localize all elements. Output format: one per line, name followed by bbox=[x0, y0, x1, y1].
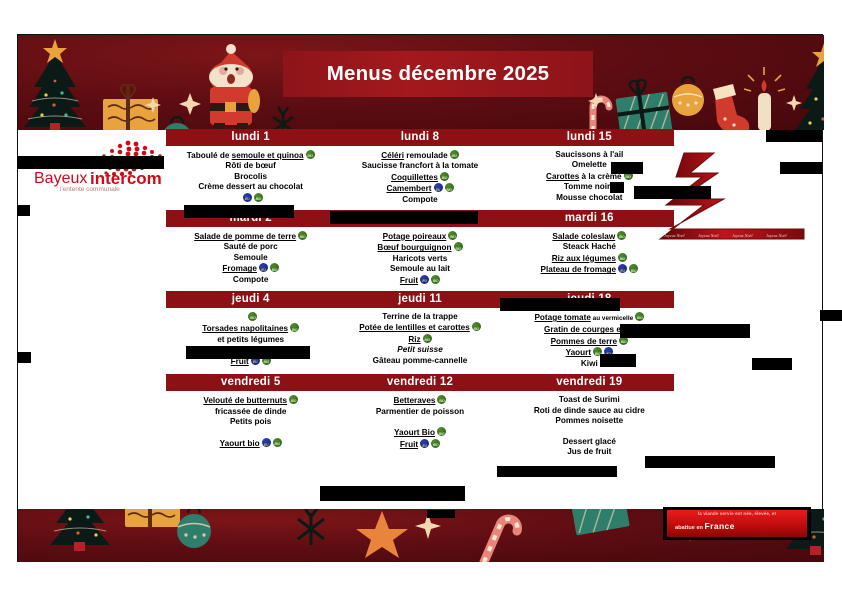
menu-cell-mardi-16: Salade coleslaw Steack Haché Riz aux lég… bbox=[505, 227, 674, 291]
dish: Pommes noisette bbox=[507, 416, 672, 426]
dish-underlined: Riz aux légumes bbox=[552, 254, 616, 263]
snowflake-icon bbox=[273, 107, 293, 130]
redaction-bar bbox=[17, 156, 164, 169]
dish: Compote bbox=[337, 195, 502, 205]
dish-underlined: Gratin de courges et bbox=[544, 325, 624, 334]
menu-cell-vendredi-5: Velouté de butternuts fricassée de dinde… bbox=[166, 391, 335, 462]
bio-badge-icon bbox=[431, 439, 440, 448]
dish: fricassée de dinde bbox=[168, 407, 333, 417]
menu-row-4: Velouté de butternuts fricassée de dinde… bbox=[166, 391, 674, 462]
redaction-bar bbox=[780, 162, 822, 174]
dish-underlined: Potée de lentilles et carottes bbox=[359, 323, 470, 332]
dish: Semoule au lait bbox=[337, 264, 502, 274]
menu-cell-lundi-1: Taboulé de semoule et quinoa Rôti de bœu… bbox=[166, 146, 335, 210]
snowflake-icon-2 bbox=[298, 509, 324, 545]
day-header-vendredi-12: vendredi 12 bbox=[335, 374, 504, 391]
bauble-icon-3 bbox=[672, 77, 704, 116]
redaction-bar bbox=[500, 298, 620, 311]
redacted-dish bbox=[507, 276, 672, 286]
sparkle-icon bbox=[179, 93, 201, 115]
dish-underlined: Céléri bbox=[381, 151, 404, 160]
sparkle-icon-4 bbox=[786, 95, 802, 111]
eu-badge-icon bbox=[243, 193, 252, 202]
stocking-icon bbox=[713, 84, 749, 130]
svg-text:Joyeux Noël: Joyeux Noël bbox=[732, 233, 753, 238]
gift-box-icon-2 bbox=[613, 77, 672, 130]
bio-badge-icon bbox=[440, 172, 449, 181]
redaction-bar bbox=[600, 354, 636, 367]
dish-underlined: Pommes de terre bbox=[551, 337, 617, 346]
dish: Taboulé de bbox=[187, 151, 232, 160]
santa-claus-icon bbox=[209, 44, 260, 130]
redaction-bar bbox=[320, 486, 465, 501]
menu-poster: Menus décembre 2025 bbox=[0, 0, 842, 595]
bio-badge-icon bbox=[635, 312, 644, 321]
bio-badge-icon bbox=[290, 323, 299, 332]
notice-prefix: abattue en bbox=[675, 525, 705, 531]
page-title: Menus décembre 2025 bbox=[327, 62, 550, 86]
star-icon bbox=[356, 511, 408, 558]
redaction-bar bbox=[820, 310, 842, 321]
gift-box-icon-3 bbox=[125, 509, 180, 527]
redaction-bar bbox=[752, 358, 792, 370]
day-header-lundi-8: lundi 8 bbox=[335, 129, 504, 146]
redaction-bar bbox=[497, 466, 617, 477]
menu-cell-mardi-2: Salade de pomme de terre Sauté de porc S… bbox=[166, 227, 335, 291]
notice-plate: la viande servie est née, élevée, et aba… bbox=[667, 510, 807, 537]
dish-empty bbox=[168, 427, 333, 437]
notice-line-1: la viande servie est née, élevée, et bbox=[667, 511, 807, 516]
christmas-tree-icon bbox=[24, 39, 86, 130]
eu-badge-icon bbox=[434, 183, 443, 192]
dish: Compote bbox=[168, 275, 333, 285]
bio-badge-icon bbox=[298, 231, 307, 240]
dish: Roti de dinde sauce au cidre bbox=[507, 406, 672, 416]
menu-cell-lundi-15: Saucissons à l'ail Omelette Carottes à l… bbox=[505, 146, 674, 210]
redacted-dish bbox=[168, 312, 333, 323]
bio-badge-icon bbox=[431, 275, 440, 284]
notice-line-2: abattue en France bbox=[675, 521, 735, 531]
menu-row-1: Taboulé de semoule et quinoa Rôti de bœu… bbox=[166, 146, 674, 210]
bio-badge-icon bbox=[618, 253, 627, 262]
eu-badge-icon bbox=[259, 263, 268, 272]
day-header-vendredi-19: vendredi 19 bbox=[505, 374, 674, 391]
dish-underlined: Torsades napolitaines bbox=[202, 324, 288, 333]
dish-underlined: Bœuf bourguignon bbox=[377, 243, 451, 252]
menu-cell-lundi-8: Céléri remoulade Saucisse francfort à la… bbox=[335, 146, 504, 210]
dish-underlined: Betteraves bbox=[394, 396, 436, 405]
christmas-tree-icon-3 bbox=[50, 509, 110, 551]
menu-cell-vendredi-19: Toast de Surimi Roti de dinde sauce au c… bbox=[505, 391, 674, 462]
bio-badge-icon bbox=[448, 231, 457, 240]
bio-badge-icon bbox=[437, 395, 446, 404]
day-header-row-1: lundi 1 lundi 8 lundi 15 bbox=[166, 129, 674, 146]
page-title-plate: Menus décembre 2025 bbox=[283, 51, 593, 97]
menu-row-2: Salade de pomme de terre Sauté de porc S… bbox=[166, 227, 674, 291]
header-banner: Menus décembre 2025 bbox=[18, 35, 824, 130]
dish-small: au vermicelle bbox=[591, 315, 633, 322]
menu-cell-jeudi-18: Potage tomate au vermicelle Gratin de co… bbox=[505, 308, 674, 374]
bio-badge-icon bbox=[454, 242, 463, 251]
dish: Rôti de bœuf bbox=[168, 161, 333, 171]
dish-underlined: Potage tomate bbox=[534, 313, 590, 322]
poster-card: Menus décembre 2025 bbox=[17, 34, 823, 562]
notice-country: France bbox=[705, 521, 735, 531]
redaction-bar bbox=[427, 510, 455, 518]
redaction-bar bbox=[610, 182, 624, 193]
bio-badge-icon bbox=[445, 183, 454, 192]
menu-grid: lundi 1 lundi 8 lundi 15 Taboulé de semo… bbox=[166, 129, 674, 463]
dish-underlined: Salade de pomme de terre bbox=[194, 232, 296, 241]
dish: Kiwi bbox=[507, 359, 672, 369]
svg-text:Joyeux Noël: Joyeux Noël bbox=[766, 233, 787, 238]
bio-badge-icon bbox=[254, 193, 263, 202]
menu-cell-mardi-9: Potage poireaux Bœuf bourguignon Haricot… bbox=[335, 227, 504, 291]
dish-underlined: Potage poireaux bbox=[383, 232, 447, 241]
dish: Omelette bbox=[507, 160, 672, 170]
day-header-lundi-15: lundi 15 bbox=[505, 129, 674, 146]
bio-badge-icon bbox=[423, 334, 432, 343]
dish-underlined: Coquillettes bbox=[391, 173, 438, 182]
redaction-bar bbox=[17, 352, 31, 363]
dish-underlined: semoule et quinoa bbox=[232, 151, 304, 160]
dish-underlined: Fromage bbox=[222, 264, 257, 273]
bio-badge-icon bbox=[617, 231, 626, 240]
dish-underlined: Fruit bbox=[400, 440, 418, 449]
bauble-icon-4 bbox=[177, 509, 211, 548]
dish: Brocolis bbox=[168, 172, 333, 182]
dish: Petits pois bbox=[168, 417, 333, 427]
dish: Terrine de la trappe bbox=[337, 312, 502, 322]
dish: Saucisse francfort à la tomate bbox=[337, 161, 502, 171]
dish-underlined: Yaourt Bio bbox=[394, 428, 435, 437]
day-header-vendredi-5: vendredi 5 bbox=[166, 374, 335, 391]
dish: Crème dessert au chocolat bbox=[168, 182, 333, 192]
day-header-jeudi-11: jeudi 11 bbox=[335, 291, 504, 308]
dish: remoulade bbox=[404, 151, 448, 160]
candy-cane-icon-2 bbox=[484, 519, 518, 562]
bio-badge-icon bbox=[289, 395, 298, 404]
menu-cell-vendredi-12: Betteraves Parmentier de poisson Yaourt … bbox=[335, 391, 504, 462]
dish: Steack Haché bbox=[507, 242, 672, 252]
dish-underlined: Salade coleslaw bbox=[552, 232, 615, 241]
dish-underlined: Riz bbox=[408, 335, 420, 344]
gift-box-icon bbox=[103, 85, 158, 130]
dish: Semoule bbox=[168, 253, 333, 263]
eu-badge-icon bbox=[262, 438, 271, 447]
bio-badge-icon bbox=[472, 322, 481, 331]
dish: Saucissons à l'ail bbox=[507, 150, 672, 160]
dish: Sauté de porc bbox=[168, 242, 333, 252]
redaction-bar bbox=[620, 324, 750, 338]
redaction-bar bbox=[645, 456, 775, 468]
menu-cell-jeudi-4: Torsades napolitaines et petits légumes … bbox=[166, 308, 335, 374]
redaction-bar bbox=[17, 205, 30, 216]
redaction-bar bbox=[184, 205, 294, 218]
dish-underlined: Plateau de fromage bbox=[541, 265, 617, 274]
dish-underlined: Yaourt bbox=[566, 348, 591, 357]
menu-row-3: Torsades napolitaines et petits légumes … bbox=[166, 308, 674, 374]
bio-badge-icon bbox=[273, 438, 282, 447]
redaction-bar bbox=[634, 186, 711, 199]
day-header-row-4: vendredi 5 vendredi 12 vendredi 19 bbox=[166, 374, 674, 391]
dish-empty bbox=[337, 417, 502, 427]
bio-badge-icon bbox=[450, 150, 459, 159]
christmas-tree-icon-2 bbox=[794, 43, 824, 130]
redaction-bar bbox=[766, 130, 822, 142]
dish: Haricots verts bbox=[337, 254, 502, 264]
redaction-bar bbox=[611, 162, 643, 174]
redacted-dish bbox=[168, 193, 333, 204]
bio-badge-icon bbox=[629, 264, 638, 273]
eu-badge-icon bbox=[420, 275, 429, 284]
candle-icon bbox=[744, 67, 785, 130]
dish-italic: Petit suisse bbox=[337, 345, 502, 355]
day-header-mardi-16: mardi 16 bbox=[505, 210, 674, 227]
dish: Dessert glacé bbox=[507, 437, 672, 447]
dish: Gâteau pomme-cannelle bbox=[337, 356, 502, 366]
redaction-bar bbox=[186, 346, 310, 359]
bio-badge-icon bbox=[306, 150, 315, 159]
dish-underlined: Fruit bbox=[400, 276, 418, 285]
bio-badge-icon bbox=[437, 427, 446, 436]
day-header-jeudi-4: jeudi 4 bbox=[166, 291, 335, 308]
bio-badge-icon bbox=[248, 312, 257, 321]
logo-tagline: l'entente communale bbox=[60, 186, 120, 193]
dish: et petits légumes bbox=[168, 335, 333, 345]
bio-badge-icon bbox=[270, 263, 279, 272]
logo-word-1: Bayeux bbox=[34, 170, 87, 187]
dish-underlined: Carottes bbox=[546, 172, 579, 181]
france-meat-notice: la viande servie est née, élevée, et aba… bbox=[663, 507, 811, 540]
eu-badge-icon bbox=[420, 439, 429, 448]
dish-underlined: Yaourt bio bbox=[220, 439, 260, 448]
svg-text:Joyeux Noël: Joyeux Noël bbox=[698, 233, 719, 238]
dish-underlined: Camembert bbox=[386, 184, 431, 193]
menu-cell-jeudi-11: Terrine de la trappe Potée de lentilles … bbox=[335, 308, 504, 374]
dish: Toast de Surimi bbox=[507, 395, 672, 405]
day-header-lundi-1: lundi 1 bbox=[166, 129, 335, 146]
redaction-bar bbox=[330, 211, 478, 224]
redacted-dish bbox=[507, 426, 672, 436]
gift-box-icon-4 bbox=[570, 509, 630, 535]
eu-badge-icon bbox=[618, 264, 627, 273]
dish-underlined: Velouté de butternuts bbox=[203, 396, 287, 405]
dish: Parmentier de poisson bbox=[337, 407, 502, 417]
